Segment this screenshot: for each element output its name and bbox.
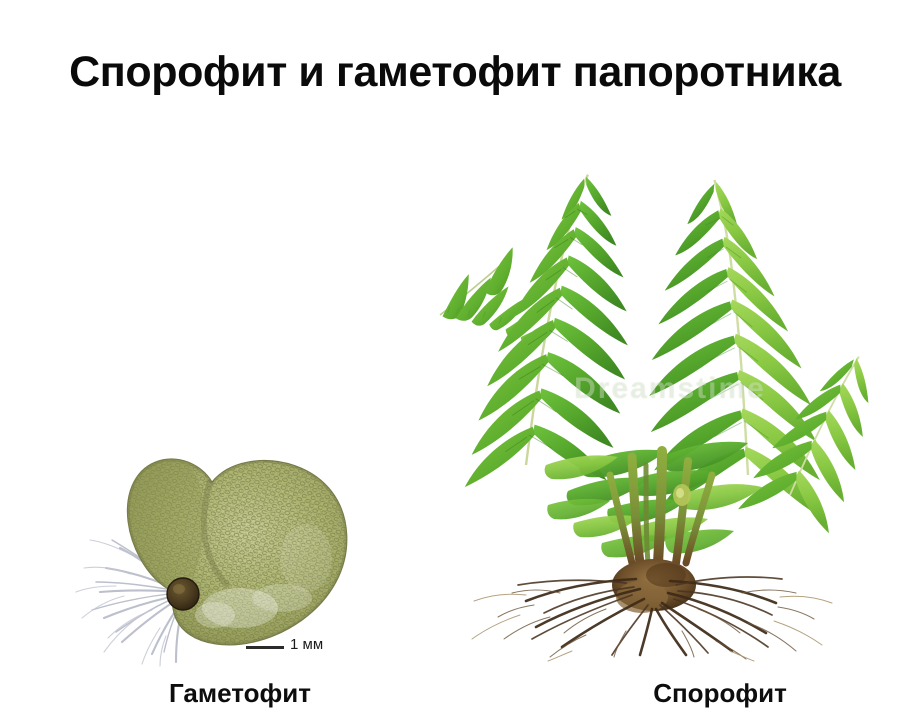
scale-bar: 1 мм [244,636,364,660]
spore-coat [167,578,199,610]
slide-canvas: Спорофит и гаметофит папоротника [0,0,910,725]
frond-center-left [454,173,633,487]
sporophyte-figure [430,165,890,660]
rhizome [612,559,696,613]
sporophyte-illustration [430,165,890,660]
caption-sporophyte: Спорофит [540,678,900,709]
caption-gametophyte: Гаметофит [60,678,420,709]
scale-bar-line [246,646,284,649]
page-title: Спорофит и гаметофит папоротника [0,50,910,95]
scale-bar-label: 1 мм [290,636,323,653]
